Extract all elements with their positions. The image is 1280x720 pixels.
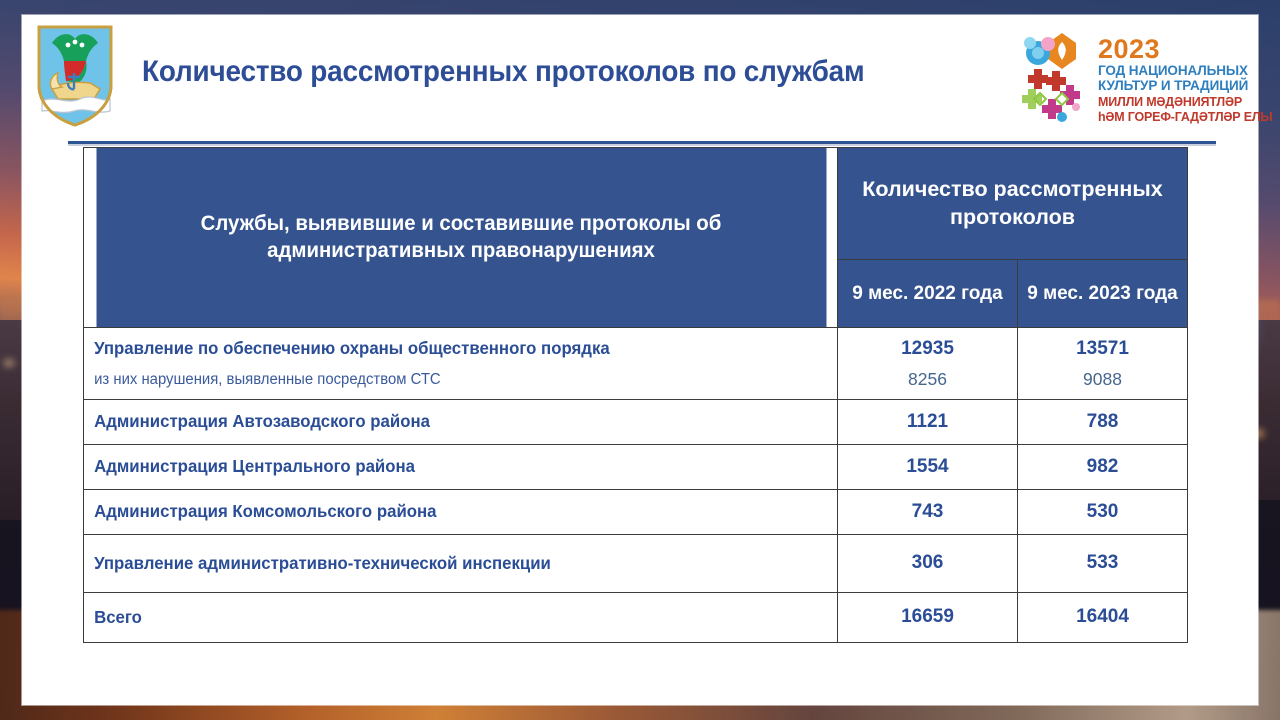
table-row: Администрация Комсомольского района74353… (84, 489, 1188, 534)
header-services: Службы, выявившие и составившие протокол… (95, 148, 826, 328)
slide-panel: Количество рассмотренных протоколов по с… (22, 15, 1258, 705)
table-row: Всего1665916404 (84, 592, 1188, 642)
cell-value-2022: 16659 (838, 592, 1018, 642)
table-row: Администрация Автозаводского района11217… (84, 399, 1188, 444)
logo-line-3: МИЛЛИ МӘДӘНИЯТЛӘР (1098, 95, 1272, 109)
cell-value-2023: 788 (1018, 399, 1188, 444)
cell-value-2022: 1554 (838, 444, 1018, 489)
cell-value-2022: 8256 (838, 369, 1018, 399)
protocols-table: Службы, выявившие и составившие протокол… (83, 147, 1188, 643)
slide-header: Количество рассмотренных протоколов по с… (22, 15, 1258, 131)
page-title: Количество рассмотренных протоколов по с… (142, 55, 970, 89)
table-row: Управление административно-технической и… (84, 534, 1188, 592)
cell-service-name: Администрация Комсомольского района (84, 489, 808, 534)
cell-service-name: Администрация Центрального района (84, 444, 808, 489)
header-divider (68, 141, 1216, 146)
cell-value-2023: 530 (1018, 489, 1188, 534)
table-row: Управление по обеспечению охраны обществ… (84, 328, 1188, 370)
cell-service-name: Администрация Автозаводского района (84, 399, 808, 444)
header-2023: 9 мес. 2023 года (1018, 260, 1188, 328)
cell-service-name: Управление административно-технической и… (84, 534, 808, 592)
header-2022: 9 мес. 2022 года (838, 260, 1018, 328)
tatar-ornament-icon (1022, 29, 1094, 129)
table-row: Администрация Центрального района1554982 (84, 444, 1188, 489)
logo-line-1: ГОД НАЦИОНАЛЬНЫХ (1098, 63, 1272, 78)
cell-value-2023: 9088 (1018, 369, 1188, 399)
cell-value-2023: 533 (1018, 534, 1188, 592)
cell-value-2022: 12935 (838, 328, 1018, 370)
cell-value-2023: 16404 (1018, 592, 1188, 642)
logo-year: 2023 (1098, 36, 1272, 63)
cell-service-name: Управление по обеспечению охраны обществ… (84, 328, 808, 370)
header-count-group: Количество рассмотренных протоколов (838, 148, 1188, 260)
table-subrow: из них нарушения, выявленные посредством… (84, 369, 1188, 399)
cell-value-2022: 743 (838, 489, 1018, 534)
cell-service-name: из них нарушения, выявленные посредством… (84, 369, 808, 399)
protocols-table-wrapper: Службы, выявившие и составившие протокол… (83, 147, 1187, 643)
table-body: Управление по обеспечению охраны обществ… (84, 328, 1188, 643)
cell-value-2022: 1121 (838, 399, 1018, 444)
logo-text-block: 2023 ГОД НАЦИОНАЛЬНЫХ КУЛЬТУР И ТРАДИЦИЙ… (1098, 34, 1272, 124)
table-header-row-1: Службы, выявившие и составившие протокол… (84, 148, 1188, 260)
cell-value-2022: 306 (838, 534, 1018, 592)
cell-service-name: Всего (84, 592, 808, 642)
logo-line-2: КУЛЬТУР И ТРАДИЦИЙ (1098, 78, 1272, 93)
cell-value-2023: 13571 (1018, 328, 1188, 370)
year-of-cultures-logo: 2023 ГОД НАЦИОНАЛЬНЫХ КУЛЬТУР И ТРАДИЦИЙ… (1022, 25, 1244, 133)
logo-line-4: һӘМ ГОРЕФ-ГАДӘТЛӘР ЕЛЫ (1098, 110, 1272, 124)
table-head: Службы, выявившие и составившие протокол… (84, 148, 1188, 328)
coat-of-arms-icon (34, 23, 116, 129)
street-light (4, 360, 14, 366)
cell-value-2023: 982 (1018, 444, 1188, 489)
